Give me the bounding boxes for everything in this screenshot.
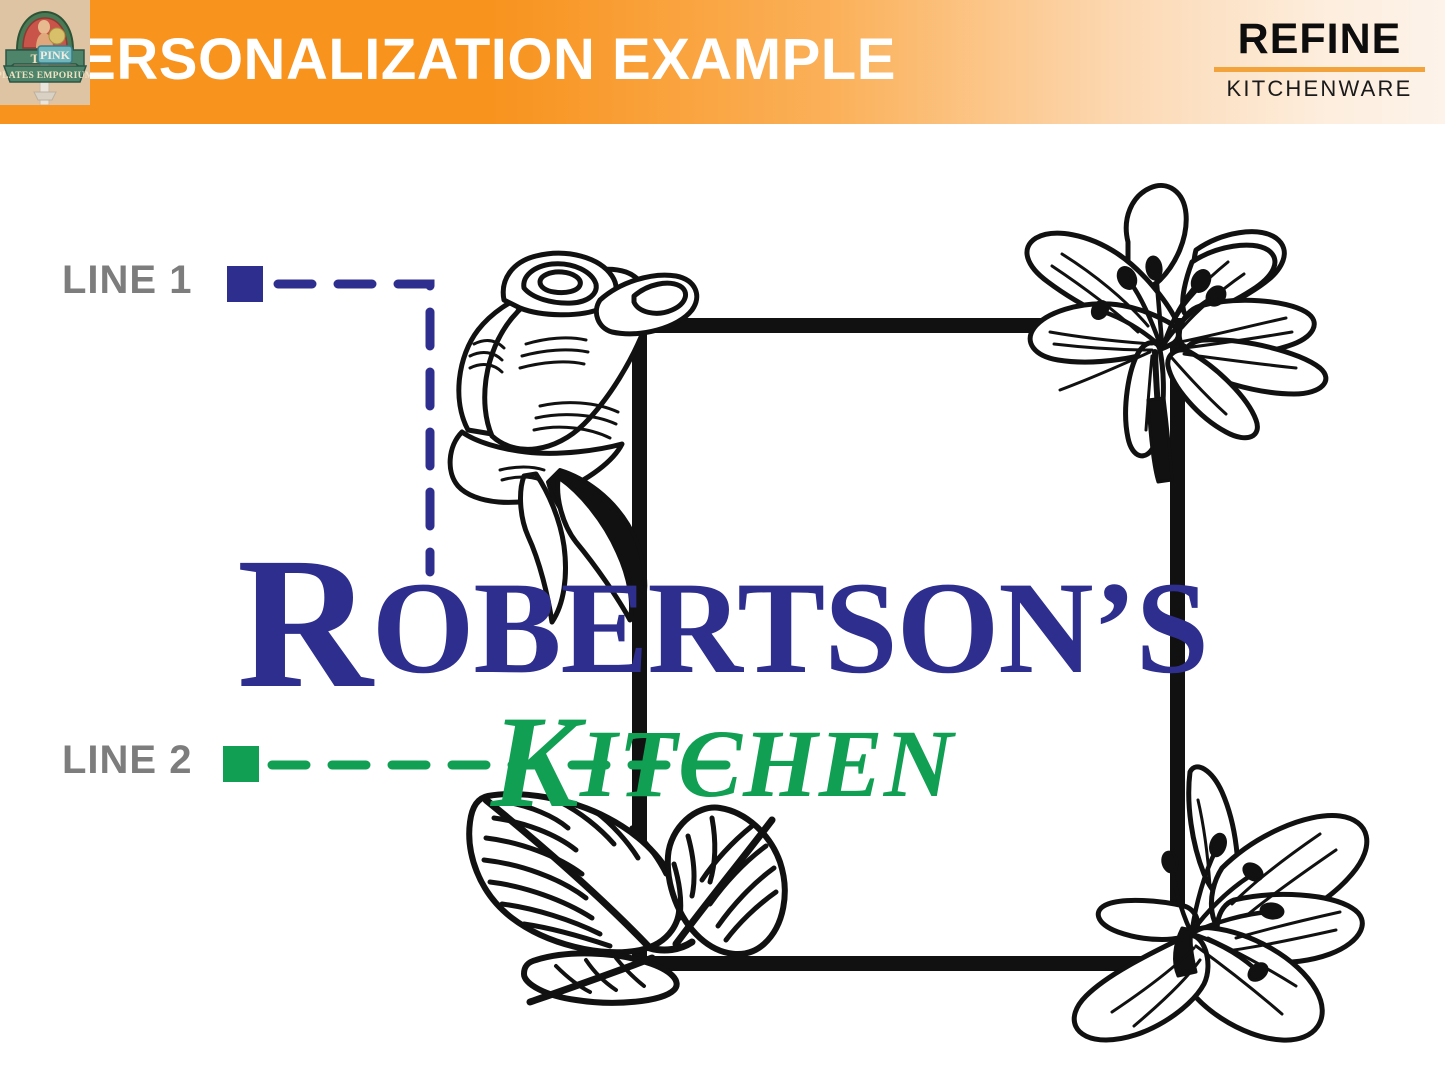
personalization-line-2-text: KITCHEN <box>0 710 1445 814</box>
color-swatch-line-1[interactable] <box>227 266 263 302</box>
brand-name: REFINE <box>1212 18 1427 61</box>
line-2-remainder: ITCHEN <box>580 710 954 817</box>
shop-logo-icon: THE PINK PLATES EMPORIUM <box>0 0 90 105</box>
page-title: PERSONALIZATION EXAMPLE <box>38 26 896 93</box>
svg-text:PLATES EMPORIUM: PLATES EMPORIUM <box>0 71 90 81</box>
svg-text:PINK: PINK <box>40 48 71 62</box>
personalization-example-slide: ROBERTSON’S KITCHEN LINE 1 LINE 2 PERSON… <box>0 0 1445 1084</box>
pink-plates-emporium-logo-watermark: THE PINK PLATES EMPORIUM <box>0 0 90 105</box>
line-2-drop-cap: K <box>491 688 580 835</box>
color-swatch-line-2[interactable] <box>223 746 259 782</box>
floral-frame-artwork <box>0 0 1445 1084</box>
personalization-line-1-text: ROBERTSON’S <box>0 552 1445 695</box>
brand-divider-rule <box>1214 67 1425 72</box>
brand-subtitle: KITCHENWARE <box>1212 78 1427 100</box>
line-1-remainder: OBERTSON’S <box>372 554 1208 701</box>
slide-header-bar: PERSONALIZATION EXAMPLE THE PINK <box>0 0 1445 124</box>
line-1-drop-cap: R <box>237 518 372 727</box>
callout-label-line-1: LINE 1 <box>62 258 192 303</box>
refine-kitchenware-logo: REFINE KITCHENWARE <box>1212 18 1427 100</box>
callout-label-line-2: LINE 2 <box>62 738 192 783</box>
